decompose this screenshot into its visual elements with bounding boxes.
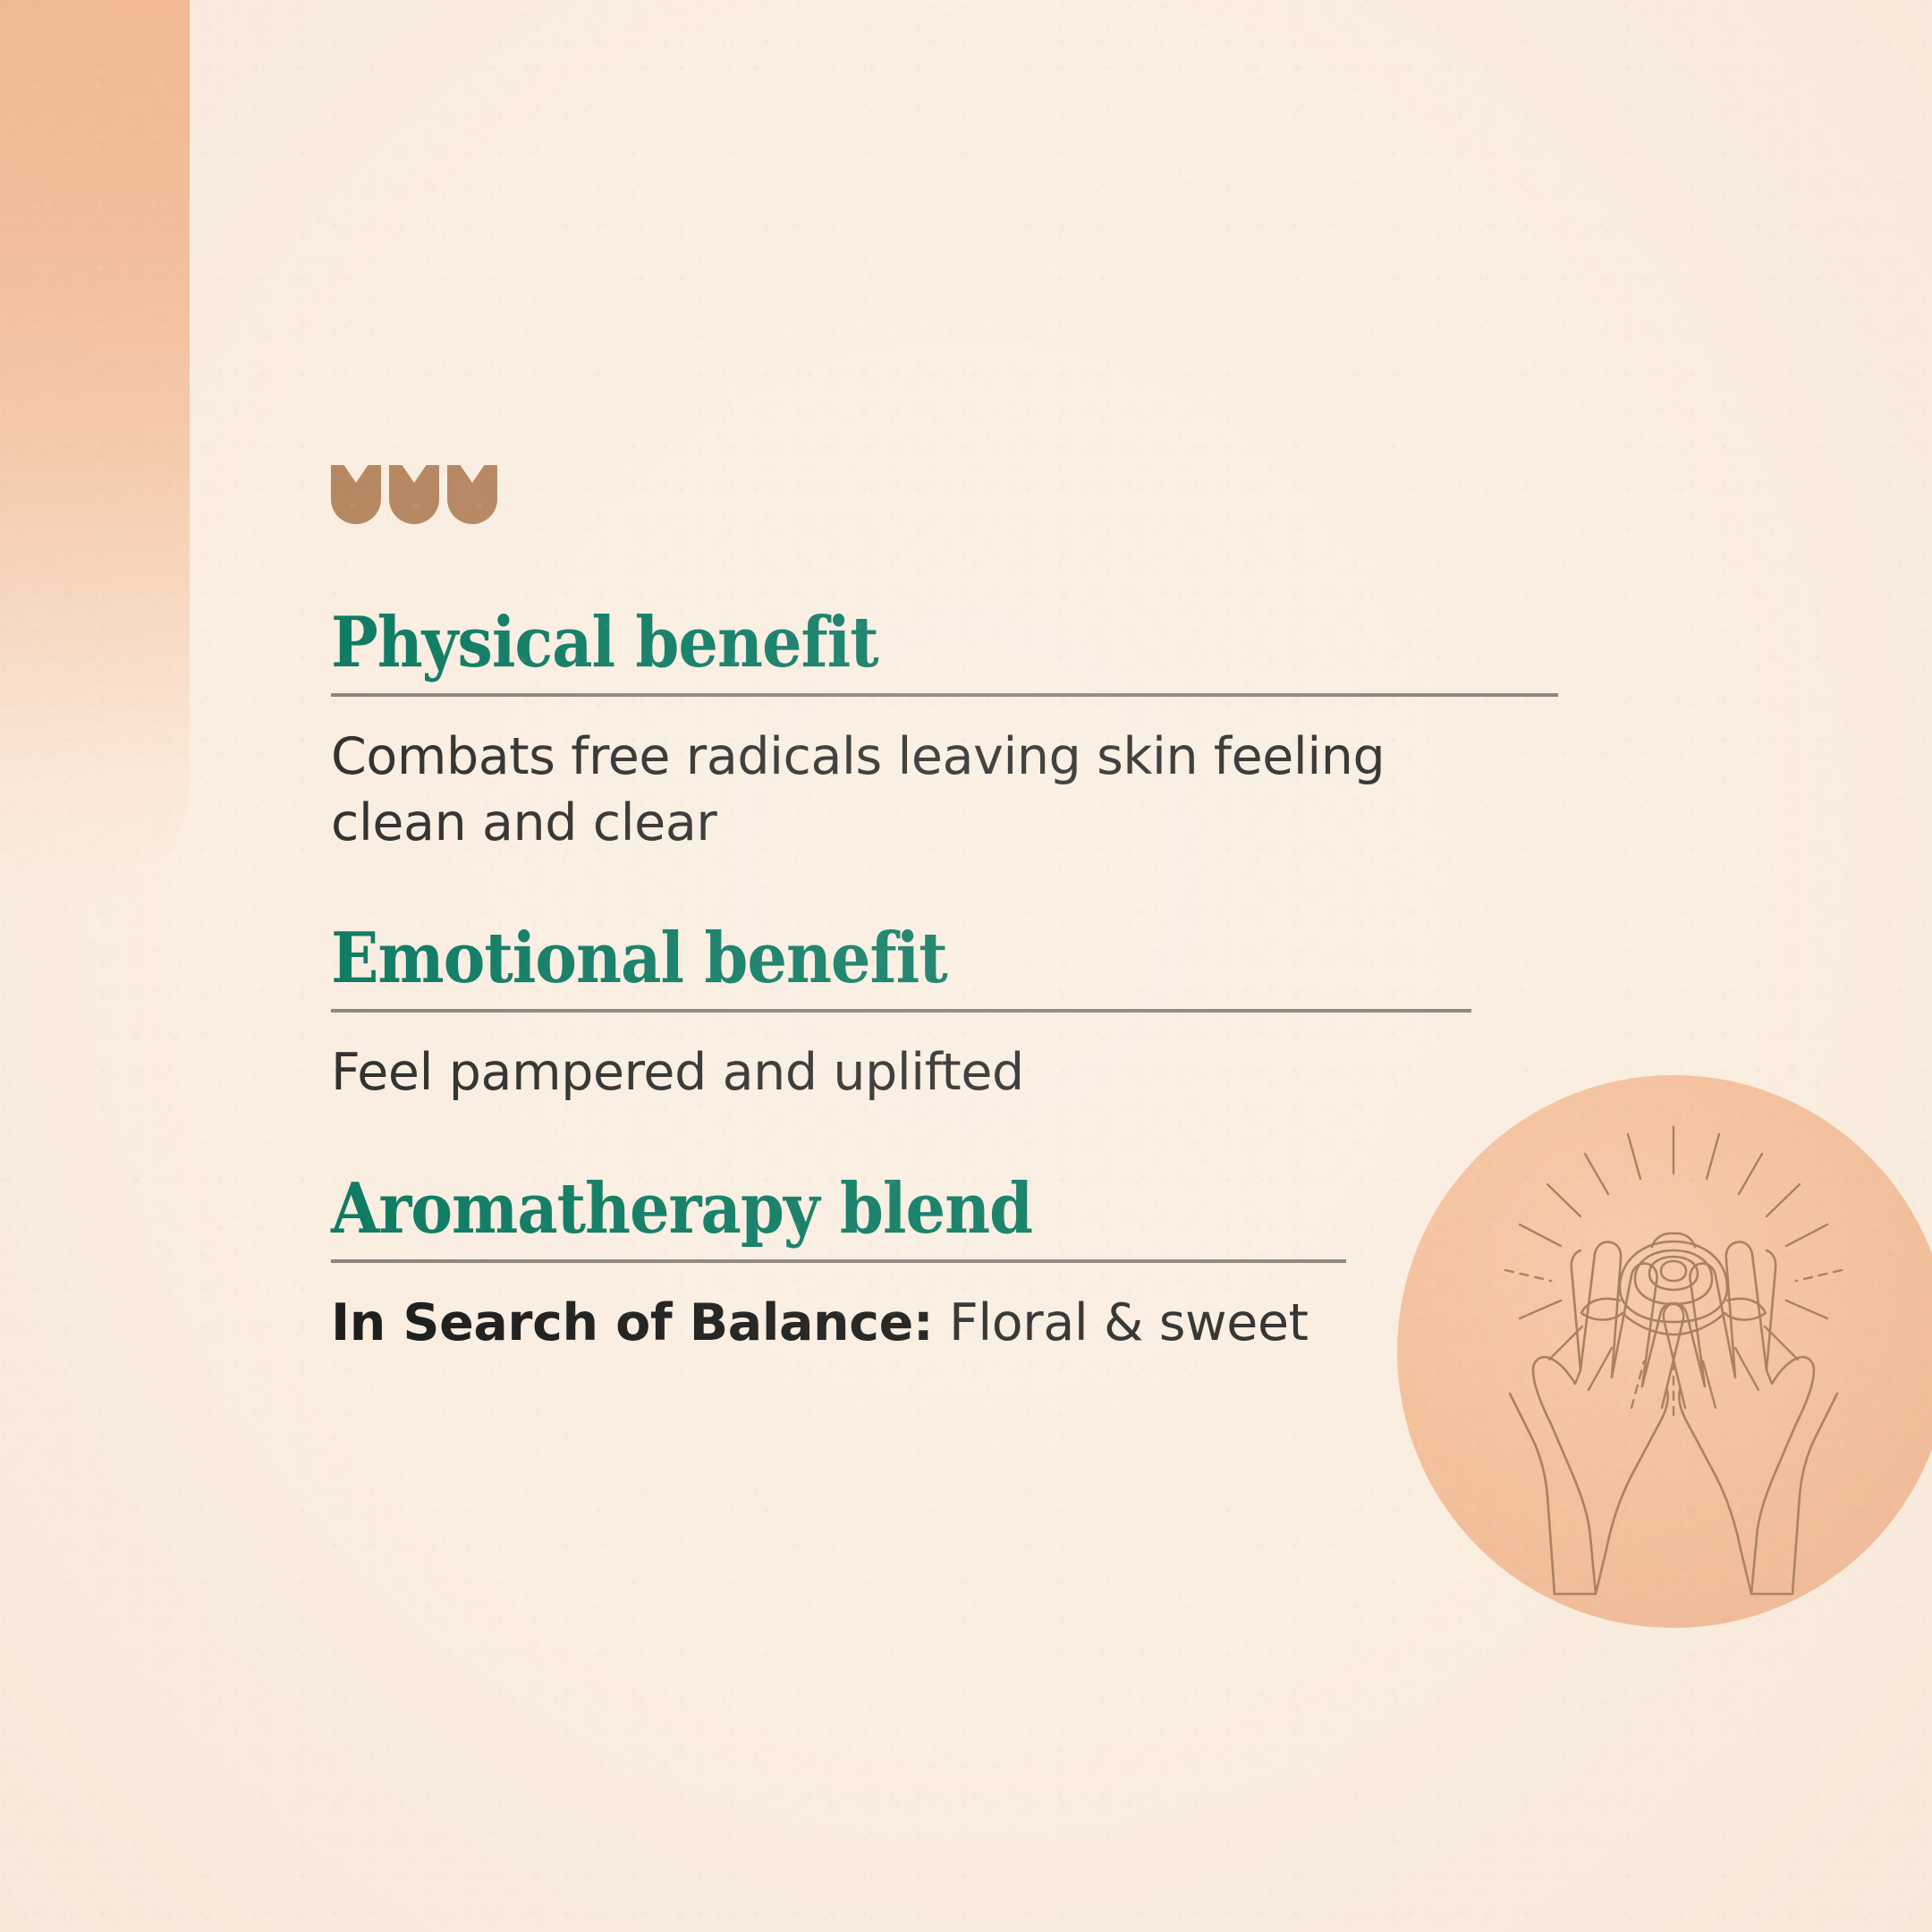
product-benefits-card: Physical benefit Combats free radicals l… [0, 0, 1932, 1932]
rose-flower [1581, 1233, 1766, 1335]
blend-description: Floral & sweet [933, 1293, 1308, 1352]
aromatherapy-blend-body: In Search of Balance: Floral & sweet [331, 1290, 1521, 1356]
benefit-block-physical: Physical benefit Combats free radicals l… [331, 606, 1583, 856]
section-divider [331, 1009, 1471, 1013]
blend-name-label: In Search of Balance: [331, 1293, 933, 1352]
aromatherapy-blend-heading: Aromatherapy blend [331, 1173, 1458, 1245]
section-divider [331, 693, 1558, 697]
physical-benefit-body: Combats free radicals leaving skin feeli… [331, 724, 1521, 856]
petal-icon [389, 465, 439, 524]
emotional-benefit-heading: Emotional benefit [331, 922, 1458, 995]
right-hand [1664, 1242, 1837, 1594]
benefit-block-aromatherapy: Aromatherapy blend In Search of Balance:… [331, 1173, 1583, 1356]
benefit-block-emotional: Emotional benefit Feel pampered and upli… [331, 922, 1583, 1106]
physical-benefit-heading: Physical benefit [331, 606, 1458, 679]
petal-icon [447, 465, 497, 524]
petal-icon [331, 465, 381, 524]
emotional-benefit-body: Feel pampered and uplifted [331, 1039, 1521, 1106]
benefits-content-column: Physical benefit Combats free radicals l… [331, 465, 1583, 1356]
left-peach-bar-decoration [0, 0, 190, 903]
section-divider [331, 1259, 1346, 1263]
tulip-petal-mark [331, 465, 1583, 524]
